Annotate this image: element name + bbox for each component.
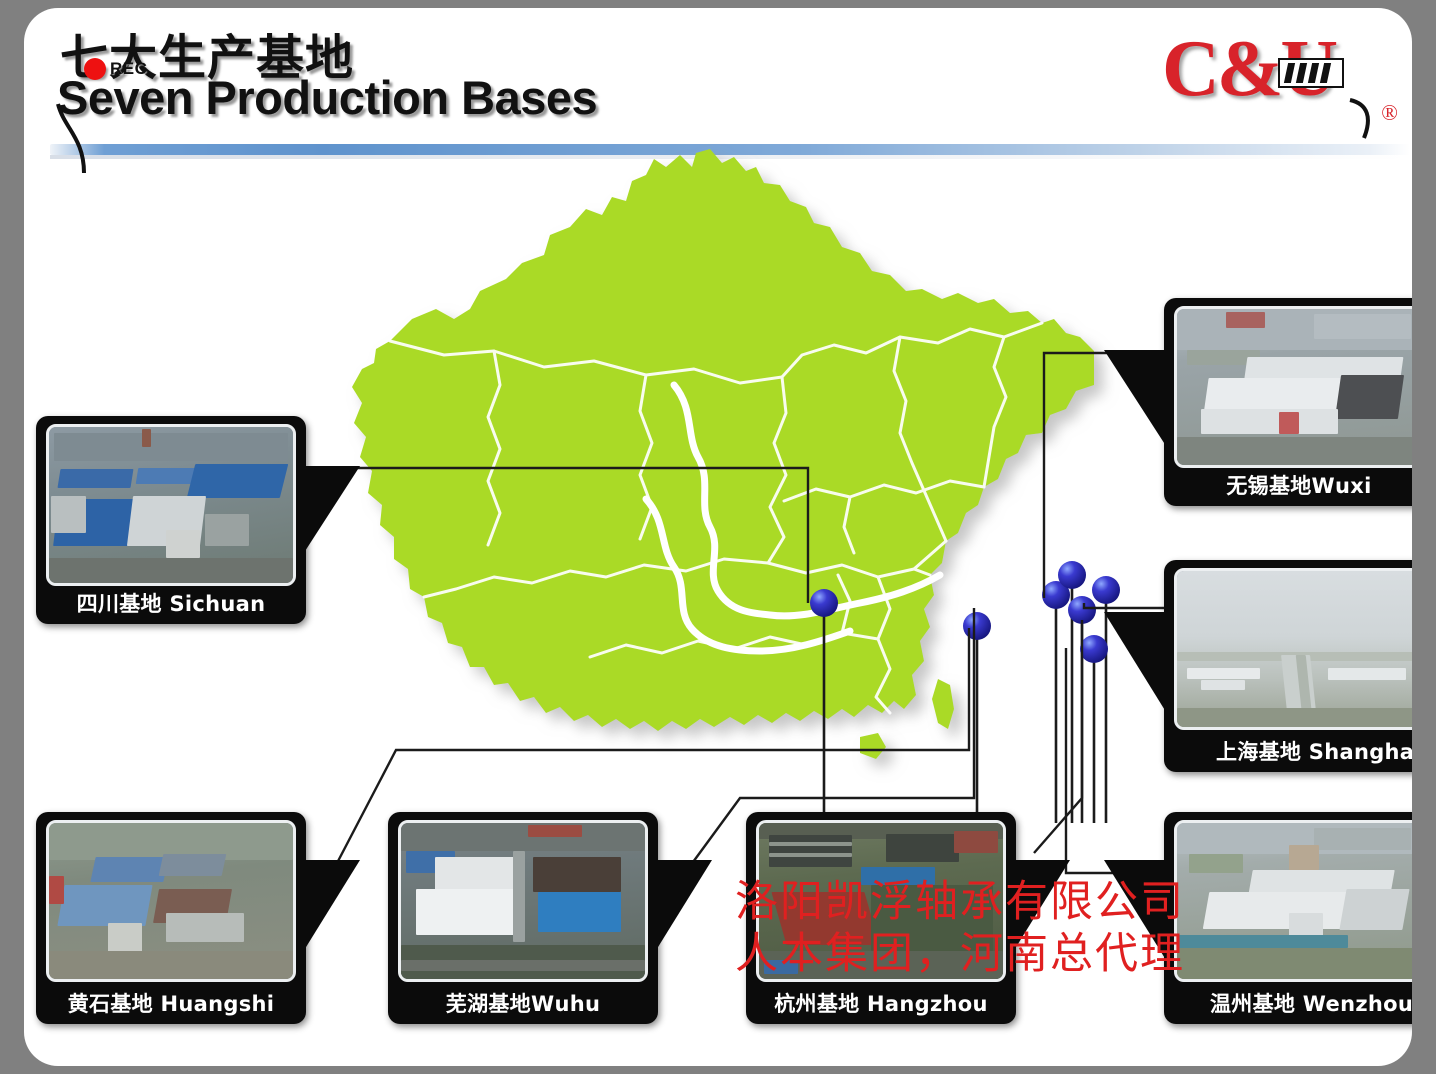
card-caption-wuxi: 无锡基地Wuxi <box>1164 470 1412 500</box>
base-card-wuxi[interactable]: 无锡基地Wuxi <box>1164 298 1412 506</box>
card-photo-wuhu <box>398 820 648 982</box>
card-photo-hangzhou <box>756 820 1006 982</box>
base-card-wenzhou[interactable]: 温州基地 Wenzhou <box>1164 812 1412 1024</box>
card-photo-wuxi <box>1174 306 1412 468</box>
card-tail <box>1104 612 1166 712</box>
map-marker-hangzhou[interactable] <box>1068 596 1096 624</box>
card-photo-huangshi <box>46 820 296 982</box>
card-tail <box>1008 860 1070 960</box>
bearing-mark-icon <box>1278 58 1344 88</box>
card-caption-wenzhou: 温州基地 Wenzhou <box>1164 988 1412 1018</box>
map-marker-wuxi[interactable] <box>1058 561 1086 589</box>
recording-indicator: REC <box>84 58 147 80</box>
map-marker-sichuan[interactable] <box>810 589 838 617</box>
base-card-wuhu[interactable]: 芜湖基地Wuhu <box>388 812 658 1024</box>
cu-logo: C&U ® <box>1162 30 1392 130</box>
card-caption-huangshi: 黄石基地 Huangshi <box>36 988 306 1018</box>
presentation-slide: 七大生产基地 Seven Production Bases C&U ® REC <box>24 8 1412 1066</box>
card-photo-shanghai <box>1174 568 1412 730</box>
card-tail <box>1104 860 1166 960</box>
card-tail <box>298 466 360 562</box>
record-dot-icon <box>84 58 106 80</box>
map-marker-shanghai[interactable] <box>1092 576 1120 604</box>
china-map <box>294 123 1094 823</box>
map-marker-huangshi[interactable] <box>963 612 991 640</box>
screenshot-root: 七大生产基地 Seven Production Bases C&U ® REC <box>0 0 1436 1074</box>
card-photo-wenzhou <box>1174 820 1412 982</box>
card-tail <box>1104 350 1166 446</box>
card-caption-wuhu: 芜湖基地Wuhu <box>388 988 658 1018</box>
card-caption-sichuan: 四川基地 Sichuan <box>36 588 306 618</box>
base-card-hangzhou[interactable]: 杭州基地 Hangzhou <box>746 812 1016 1024</box>
card-tail <box>650 860 712 960</box>
card-tail <box>298 860 360 960</box>
china-map-svg <box>294 123 1094 823</box>
card-caption-shanghai: 上海基地 Shanghai <box>1164 736 1412 766</box>
card-caption-hangzhou: 杭州基地 Hangzhou <box>746 988 1016 1018</box>
base-card-sichuan[interactable]: 四川基地 Sichuan <box>36 416 306 624</box>
base-card-shanghai[interactable]: 上海基地 Shanghai <box>1164 560 1412 772</box>
base-card-huangshi[interactable]: 黄石基地 Huangshi <box>36 812 306 1024</box>
card-photo-sichuan <box>46 424 296 586</box>
recording-indicator-label: REC <box>110 59 147 79</box>
registered-trademark-icon: ® <box>1381 100 1398 126</box>
